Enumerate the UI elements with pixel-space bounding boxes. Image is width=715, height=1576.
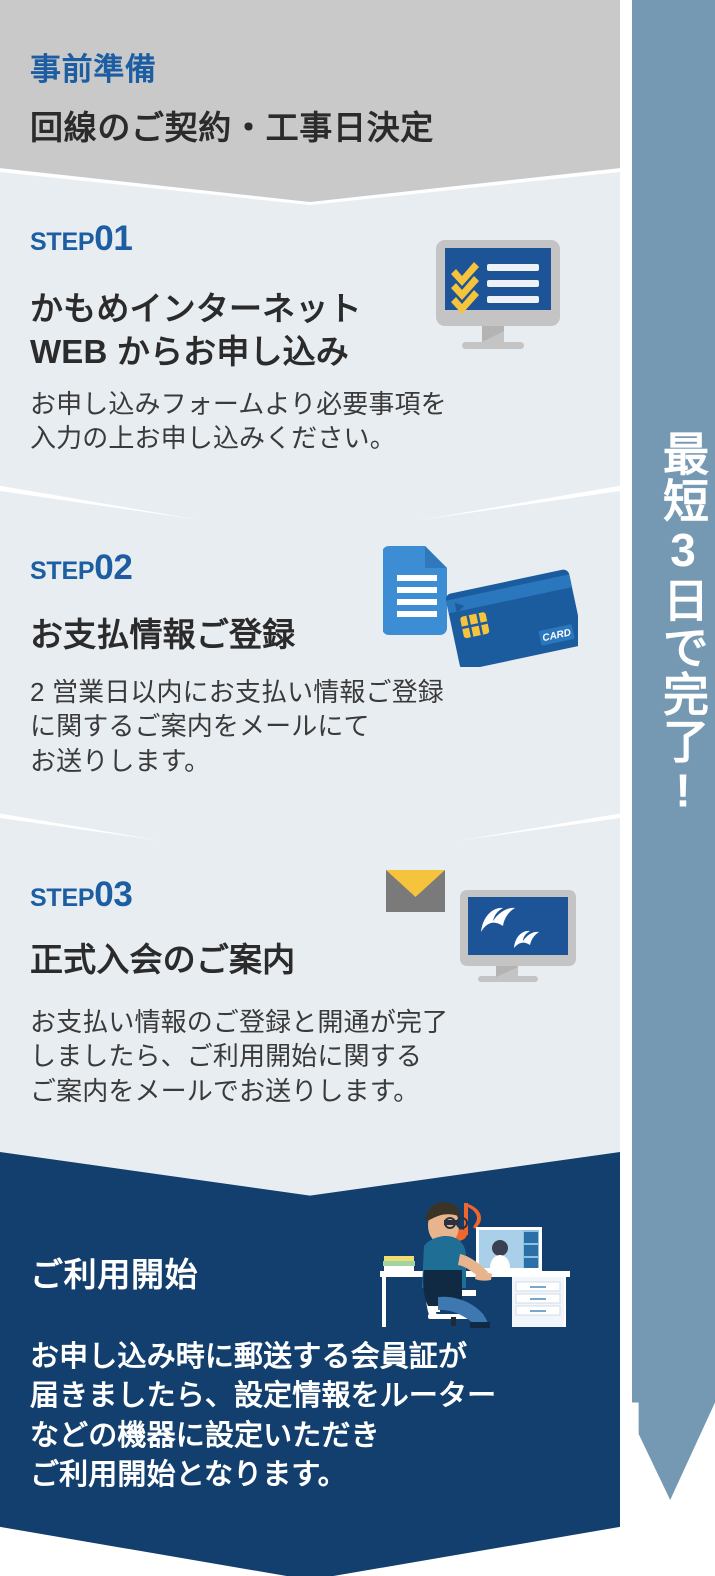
step-03-body: お支払い情報のご登録と開通が完了 しましたら、ご利用開始に関する ご案内をメール…	[30, 1005, 448, 1108]
step-02-label: STEP02	[30, 548, 133, 588]
preparation-subheading: 回線のご契約・工事日決定	[30, 101, 434, 149]
envelope-and-seagull-monitor-icon	[383, 866, 578, 988]
person-at-desk-video-call-icon	[372, 1190, 584, 1330]
step-03-title: 正式入会のご案内	[30, 939, 295, 982]
step-02-body: 2 営業日以内にお支払い情報ご登録 に関するご案内をメールにて お送りします。	[30, 675, 444, 778]
credit-card-icon: CARD	[445, 569, 578, 667]
side-arrow-label: 最短3日で完了!	[640, 430, 706, 817]
service-start-body: お申し込み時に郵送する会員証が 届きましたら、設定情報をルーター などの機器に設…	[30, 1338, 496, 1496]
service-start-title: ご利用開始	[30, 1248, 198, 1296]
step-02-title: お支払情報ご登録	[30, 614, 295, 657]
seagull-monitor-icon	[460, 890, 576, 982]
document-icon	[383, 546, 447, 635]
drawer-unit-icon	[512, 1277, 564, 1327]
books-icon	[383, 1256, 415, 1271]
envelope-icon	[386, 870, 445, 912]
preparation-heading: 事前準備	[30, 44, 156, 89]
onboarding-flow-infographic: 最短3日で完了! 事前準備 回線のご契約・工事日決定 STEP01 かもめインタ…	[0, 0, 715, 1576]
step-01-body: お申し込みフォームより必要事項を 入力の上お申し込みください。	[30, 387, 447, 456]
step-01-title: かもめインターネット WEB からお申し込み	[30, 288, 362, 374]
document-and-credit-card-icon: CARD	[383, 542, 578, 667]
checklist-monitor-icon	[434, 238, 564, 360]
step-01-label: STEP01	[30, 219, 133, 259]
step-03-label: STEP03	[30, 875, 133, 915]
